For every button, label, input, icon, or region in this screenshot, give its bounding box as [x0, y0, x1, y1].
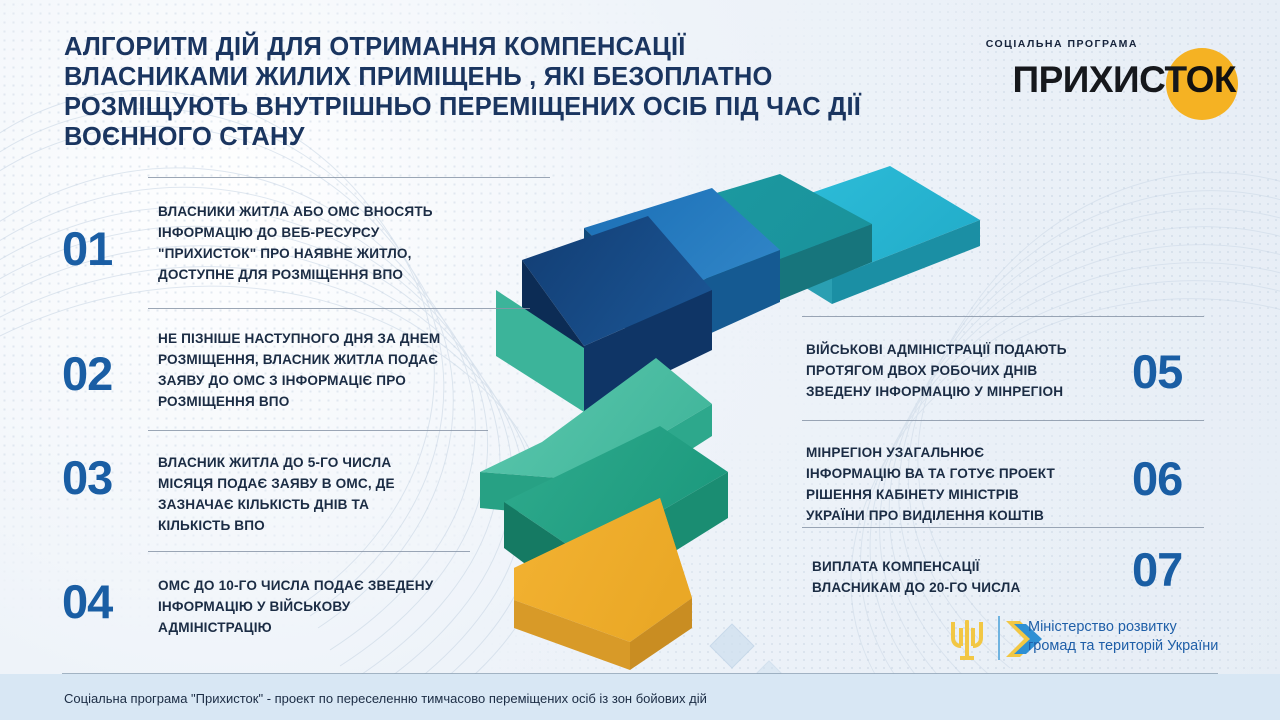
- separator-05: [802, 316, 1204, 317]
- step-04-line-2: ІНФОРМАЦІЮ У ВІЙСЬКОВУ: [158, 596, 538, 617]
- step-03-line-3: ЗАЗНАЧАЄ КІЛЬКІСТЬ ДНІВ ТА: [158, 494, 498, 515]
- step-03-line-2: МІСЯЦЯ ПОДАЄ ЗАЯВУ В ОМС, ДЕ: [158, 473, 498, 494]
- step-number-03: 03: [62, 454, 112, 501]
- brand-wordmark: ПРИХИСТОК: [1013, 58, 1237, 102]
- step-text-07: ВИПЛАТА КОМПЕНСАЦІЇ ВЛАСНИКАМ ДО 20-ГО Ч…: [812, 556, 1132, 598]
- step-01-line-3: "ПРИХИСТОК" ПРО НАЯВНЕ ЖИТЛО,: [158, 243, 538, 264]
- step-05-line-3: ЗВЕДЕНУ ІНФОРМАЦІЮ У МІНРЕГІОН: [806, 381, 1126, 402]
- title-line-3: РОЗМІЩУЮТЬ ВНУТРІШНЬО ПЕРЕМІЩЕНИХ ОСІБ П…: [64, 92, 944, 122]
- footer-note: Соціальна програма "Прихисток" - проект …: [64, 691, 707, 706]
- step-03-line-4: КІЛЬКІСТЬ ВПО: [158, 515, 498, 536]
- separator-06: [802, 420, 1204, 421]
- step-number-01: 01: [62, 225, 112, 272]
- step-text-02: НЕ ПІЗНІШЕ НАСТУПНОГО ДНЯ ЗА ДНЕМ РОЗМІЩ…: [158, 328, 538, 412]
- step-02-line-3: ЗАЯВУ ДО ОМС З ІНФОРМАЦІЄ ПРО: [158, 370, 538, 391]
- step-01-line-1: ВЛАСНИКИ ЖИТЛА АБО ОМС ВНОСЯТЬ: [158, 201, 538, 222]
- brand-logo: СОЦІАЛЬНА ПРОГРАМА ПРИХИСТОК: [974, 38, 1244, 118]
- title-line-2: ВЛАСНИКАМИ ЖИЛИХ ПРИМІЩЕНЬ , ЯКІ БЕЗОПЛА…: [64, 62, 944, 92]
- step-05-line-1: ВІЙСЬКОВІ АДМІНІСТРАЦІЇ ПОДАЮТЬ: [806, 339, 1126, 360]
- step-02-line-2: РОЗМІЩЕННЯ, ВЛАСНИК ЖИТЛА ПОДАЄ: [158, 349, 538, 370]
- ministry-logo: Міністерство розвитку громад та територі…: [942, 616, 1242, 668]
- step-06-line-3: РІШЕННЯ КАБІНЕТУ МІНІСТРІВ: [806, 484, 1126, 505]
- step-04-line-3: АДМІНІСТРАЦІЮ: [158, 617, 538, 638]
- step-01-line-2: ІНФОРМАЦІЮ ДО ВЕБ-РЕСУРСУ: [158, 222, 538, 243]
- title-line-1: АЛГОРИТМ ДІЙ ДЛЯ ОТРИМАННЯ КОМПЕНСАЦІЇ: [64, 32, 944, 62]
- step-06-line-1: МІНРЕГІОН УЗАГАЛЬНЮЄ: [806, 442, 1126, 463]
- step-02-line-4: РОЗМІЩЕННЯ ВПО: [158, 391, 538, 412]
- step-05-line-2: ПРОТЯГОМ ДВОХ РОБОЧИХ ДНІВ: [806, 360, 1126, 381]
- step-number-04: 04: [62, 578, 112, 625]
- ministry-name: Міністерство розвитку громад та територі…: [1028, 618, 1218, 656]
- footer-divider: [62, 673, 1218, 674]
- step-06-line-4: УКРАЇНИ ПРО ВИДІЛЕННЯ КОШТІВ: [806, 505, 1126, 526]
- step-number-02: 02: [62, 350, 112, 397]
- separator-01: [148, 177, 550, 178]
- brand-name-accent: ОК: [1186, 59, 1236, 100]
- step-text-05: ВІЙСЬКОВІ АДМІНІСТРАЦІЇ ПОДАЮТЬ ПРОТЯГОМ…: [806, 339, 1126, 402]
- step-01-line-4: ДОСТУПНЕ ДЛЯ РОЗМІЩЕННЯ ВПО: [158, 264, 538, 285]
- step-07-line-1: ВИПЛАТА КОМПЕНСАЦІЇ: [812, 556, 1132, 577]
- separator-04: [148, 551, 470, 552]
- infographic-canvas: АЛГОРИТМ ДІЙ ДЛЯ ОТРИМАННЯ КОМПЕНСАЦІЇ В…: [0, 0, 1280, 720]
- step-text-01: ВЛАСНИКИ ЖИТЛА АБО ОМС ВНОСЯТЬ ІНФОРМАЦІ…: [158, 201, 538, 285]
- brand-superline: СОЦІАЛЬНА ПРОГРАМА: [986, 38, 1138, 50]
- title-line-4: ВОЄННОГО СТАНУ: [64, 122, 944, 152]
- step-text-06: МІНРЕГІОН УЗАГАЛЬНЮЄ ІНФОРМАЦІЮ ВА ТА ГО…: [806, 442, 1126, 526]
- separator-02: [148, 308, 530, 309]
- step-number-06: 06: [1132, 455, 1182, 502]
- ministry-line-1: Міністерство розвитку: [1028, 618, 1218, 637]
- step-text-03: ВЛАСНИК ЖИТЛА ДО 5-ГО ЧИСЛА МІСЯЦЯ ПОДАЄ…: [158, 452, 498, 536]
- step-text-04: ОМС ДО 10-ГО ЧИСЛА ПОДАЄ ЗВЕДЕНУ ІНФОРМА…: [158, 575, 538, 638]
- ministry-divider: [998, 616, 1000, 660]
- trident-icon: [942, 616, 992, 664]
- step-number-05: 05: [1132, 348, 1182, 395]
- separator-03: [148, 430, 488, 431]
- page-title: АЛГОРИТМ ДІЙ ДЛЯ ОТРИМАННЯ КОМПЕНСАЦІЇ В…: [64, 32, 944, 152]
- step-02-line-1: НЕ ПІЗНІШЕ НАСТУПНОГО ДНЯ ЗА ДНЕМ: [158, 328, 538, 349]
- step-07-line-2: ВЛАСНИКАМ ДО 20-ГО ЧИСЛА: [812, 577, 1132, 598]
- separator-07: [802, 527, 1204, 528]
- step-06-line-2: ІНФОРМАЦІЮ ВА ТА ГОТУЄ ПРОЕКТ: [806, 463, 1126, 484]
- step-number-07: 07: [1132, 546, 1182, 593]
- brand-name-main: ПРИХИСТ: [1013, 59, 1186, 100]
- step-04-line-1: ОМС ДО 10-ГО ЧИСЛА ПОДАЄ ЗВЕДЕНУ: [158, 575, 538, 596]
- ministry-line-2: громад та територій України: [1028, 637, 1218, 656]
- step-03-line-1: ВЛАСНИК ЖИТЛА ДО 5-ГО ЧИСЛА: [158, 452, 498, 473]
